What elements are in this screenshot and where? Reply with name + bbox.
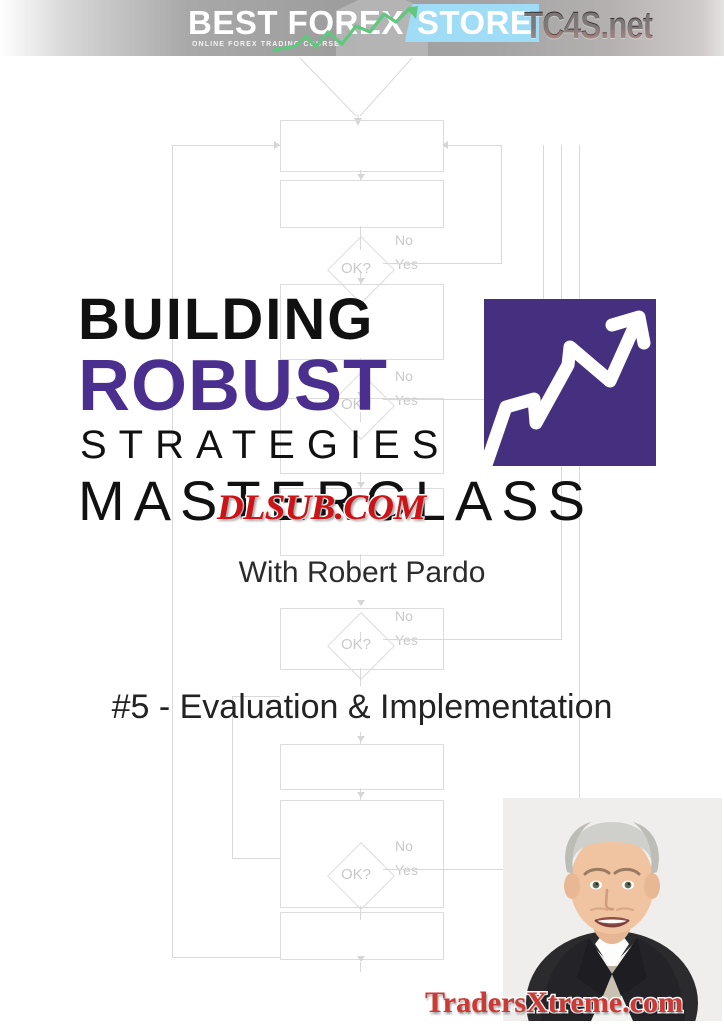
tc4s-site-label[interactable]: TC4S.net [524, 2, 652, 50]
flow-branch-yes: Yes [395, 862, 418, 878]
site-banner: BEST FOREX STORE ONLINE FOREX TRADING CO… [0, 0, 724, 56]
flow-connector [360, 962, 361, 972]
flow-branch-yes: Yes [395, 392, 418, 408]
flow-loop-line [232, 858, 280, 859]
flow-branch-no: No [395, 608, 413, 624]
flow-branch-yes: Yes [395, 256, 418, 272]
title-line-robust: ROBUST [78, 350, 388, 422]
flow-loop-line [501, 145, 502, 264]
flow-branch-yes: Yes [395, 632, 418, 648]
flow-decision-label: OK? [341, 636, 371, 653]
flow-arrow [274, 141, 280, 149]
presenter-subtitle: With Robert Pardo [0, 556, 724, 590]
flow-arrow [357, 956, 365, 962]
flow-node-2 [280, 180, 444, 228]
title-line-strategies: STRATEGIES [80, 424, 450, 466]
flow-branch-no: No [395, 232, 413, 248]
flow-loop-line [172, 145, 173, 957]
flow-decision-label: OK? [341, 866, 371, 883]
flow-loop-line [448, 145, 502, 146]
flow-arrow [357, 174, 365, 180]
green-trend-line-icon [272, 6, 452, 54]
title-line-building: BUILDING [78, 291, 374, 349]
flow-decision-label: OK? [341, 260, 371, 277]
zigzag-arrow-icon [484, 299, 656, 466]
flow-loop-line [383, 639, 561, 640]
poster-canvas: BEST FOREX STORE ONLINE FOREX TRADING CO… [0, 0, 724, 1024]
dlsub-watermark: DLSUB.COM [217, 487, 426, 527]
episode-title: #5 - Evaluation & Implementation [0, 688, 724, 727]
flow-node-1 [280, 120, 444, 172]
flow-arrow [442, 141, 448, 149]
flow-branch-no: No [395, 838, 413, 854]
tradersxtreme-watermark: TradersXtreme.com [425, 986, 683, 1020]
growth-arrow-logo [484, 299, 656, 466]
flow-arrow [357, 600, 365, 606]
flow-loop-line [172, 957, 280, 958]
flow-loop-line [172, 145, 280, 146]
flow-node-9 [280, 912, 444, 960]
flow-arrow [357, 736, 365, 742]
flow-arrow [357, 792, 365, 798]
flow-node-7 [280, 744, 444, 790]
flow-branch-no: No [395, 368, 413, 384]
flow-loop-line [383, 263, 501, 264]
